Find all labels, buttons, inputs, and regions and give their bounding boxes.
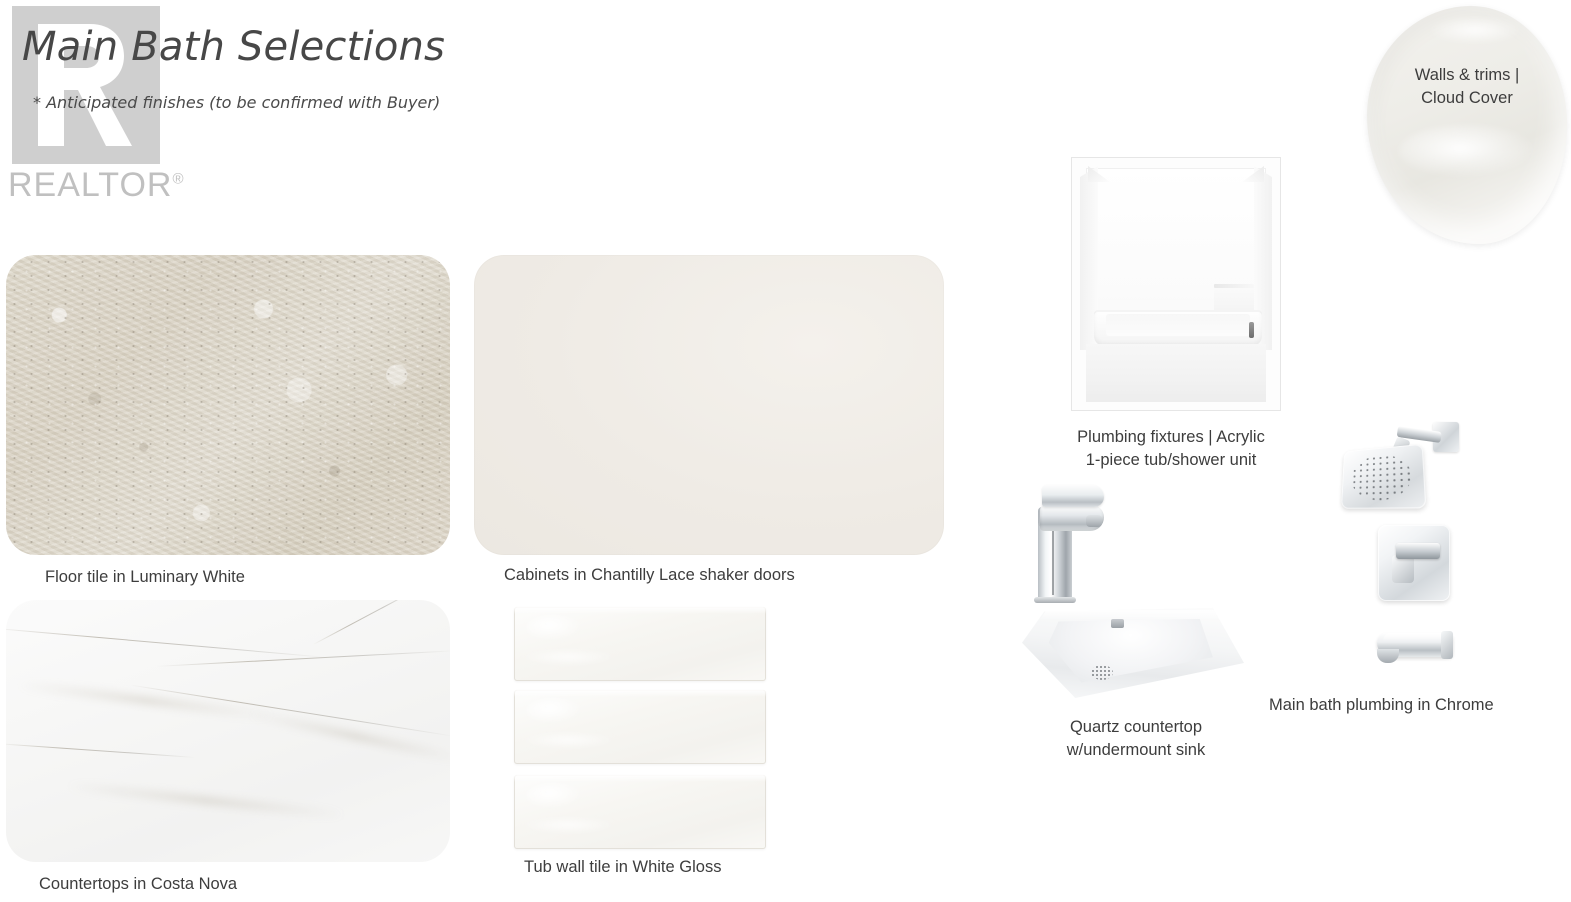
caption-cabinet: Cabinets in Chantilly Lace shaker doors bbox=[504, 564, 944, 587]
tile-gloss-highlight bbox=[520, 732, 616, 748]
sink-rim-highlight bbox=[1040, 610, 1222, 620]
tub-apron bbox=[1086, 344, 1266, 402]
product-tub-spout bbox=[1377, 627, 1453, 667]
marble-vein bbox=[156, 650, 450, 667]
tub-shower-shelf bbox=[1214, 284, 1254, 288]
tub-wall-tile-3 bbox=[514, 775, 766, 849]
valve-trim-plate bbox=[1378, 525, 1450, 601]
caption-tub-shower: Plumbing fixtures | Acrylic 1-piece tub/… bbox=[1040, 426, 1302, 472]
tile-top-highlight bbox=[514, 690, 766, 697]
tub-spout-flange bbox=[1441, 631, 1453, 659]
product-tub-shower-unit bbox=[1071, 157, 1281, 411]
marble-vein bbox=[128, 684, 450, 737]
faucet-base bbox=[1034, 597, 1076, 603]
page-subtitle: * Anticipated finishes (to be confirmed … bbox=[33, 93, 440, 112]
paint-blob-highlight bbox=[1399, 125, 1535, 177]
shower-head-body bbox=[1341, 444, 1426, 509]
paint-swatch-blob: Walls & trims | Cloud Cover bbox=[1367, 6, 1567, 244]
faucet-spout-tip bbox=[1086, 515, 1102, 527]
page-title: Main Bath Selections bbox=[22, 24, 445, 70]
tile-gloss-highlight bbox=[520, 649, 616, 665]
caption-paint: Walls & trims | Cloud Cover bbox=[1367, 64, 1567, 110]
valve-handle-hub bbox=[1392, 555, 1414, 583]
caption-tub-wall-tile: Tub wall tile in White Gloss bbox=[524, 856, 924, 879]
caption-vanity: Quartz countertop w/undermount sink bbox=[1012, 716, 1260, 762]
tile-gloss-highlight bbox=[520, 817, 616, 833]
realtor-wordmark: REALTOR® bbox=[8, 166, 185, 205]
tile-gloss-highlight bbox=[526, 783, 584, 809]
faucet-body bbox=[1038, 521, 1072, 599]
realtor-word-text: REALTOR bbox=[8, 166, 172, 204]
marble-vein bbox=[66, 781, 345, 819]
tub-drain-icon bbox=[1249, 322, 1254, 338]
marble-vein bbox=[247, 709, 450, 764]
product-basin-faucet bbox=[1016, 483, 1112, 603]
tub-spout-lip bbox=[1377, 649, 1399, 663]
faucet-body-seam bbox=[1052, 523, 1054, 595]
valve-lever-handle bbox=[1396, 543, 1440, 559]
caption-chrome-plumbing: Main bath plumbing in Chrome bbox=[1269, 694, 1569, 717]
marble-vein bbox=[313, 600, 420, 645]
swatch-cabinet bbox=[474, 255, 944, 555]
swatch-floor-tile bbox=[6, 255, 450, 555]
swatch-countertop bbox=[6, 600, 450, 862]
tile-top-highlight bbox=[514, 607, 766, 614]
tile-gloss-highlight bbox=[526, 615, 584, 641]
tub-wall-tile-1 bbox=[514, 607, 766, 681]
tile-gloss-highlight bbox=[526, 698, 584, 724]
tile-top-highlight bbox=[514, 775, 766, 782]
shower-head-spray-face bbox=[1350, 453, 1412, 501]
product-shower-head bbox=[1337, 420, 1459, 520]
faucet-lever-handle bbox=[1042, 485, 1104, 507]
sink-drain-icon bbox=[1091, 665, 1113, 680]
marble-vein bbox=[6, 743, 196, 758]
registered-mark: ® bbox=[172, 171, 184, 188]
selections-board: REALTOR® Main Bath Selections * Anticipa… bbox=[0, 0, 1571, 902]
paint-blob-highlight bbox=[1427, 16, 1523, 45]
product-shower-valve-trim bbox=[1378, 525, 1450, 601]
stone-speckle-texture bbox=[6, 255, 450, 555]
tub-basin bbox=[1106, 314, 1250, 336]
caption-countertop: Countertops in Costa Nova bbox=[39, 873, 439, 896]
tub-wall-tile-2 bbox=[514, 690, 766, 764]
sink-overflow-icon bbox=[1111, 619, 1124, 628]
marble-vein bbox=[6, 627, 325, 658]
tub-spout-highlight bbox=[1383, 633, 1449, 641]
caption-floor-tile: Floor tile in Luminary White bbox=[45, 566, 445, 589]
product-undermount-sink bbox=[1022, 606, 1244, 698]
